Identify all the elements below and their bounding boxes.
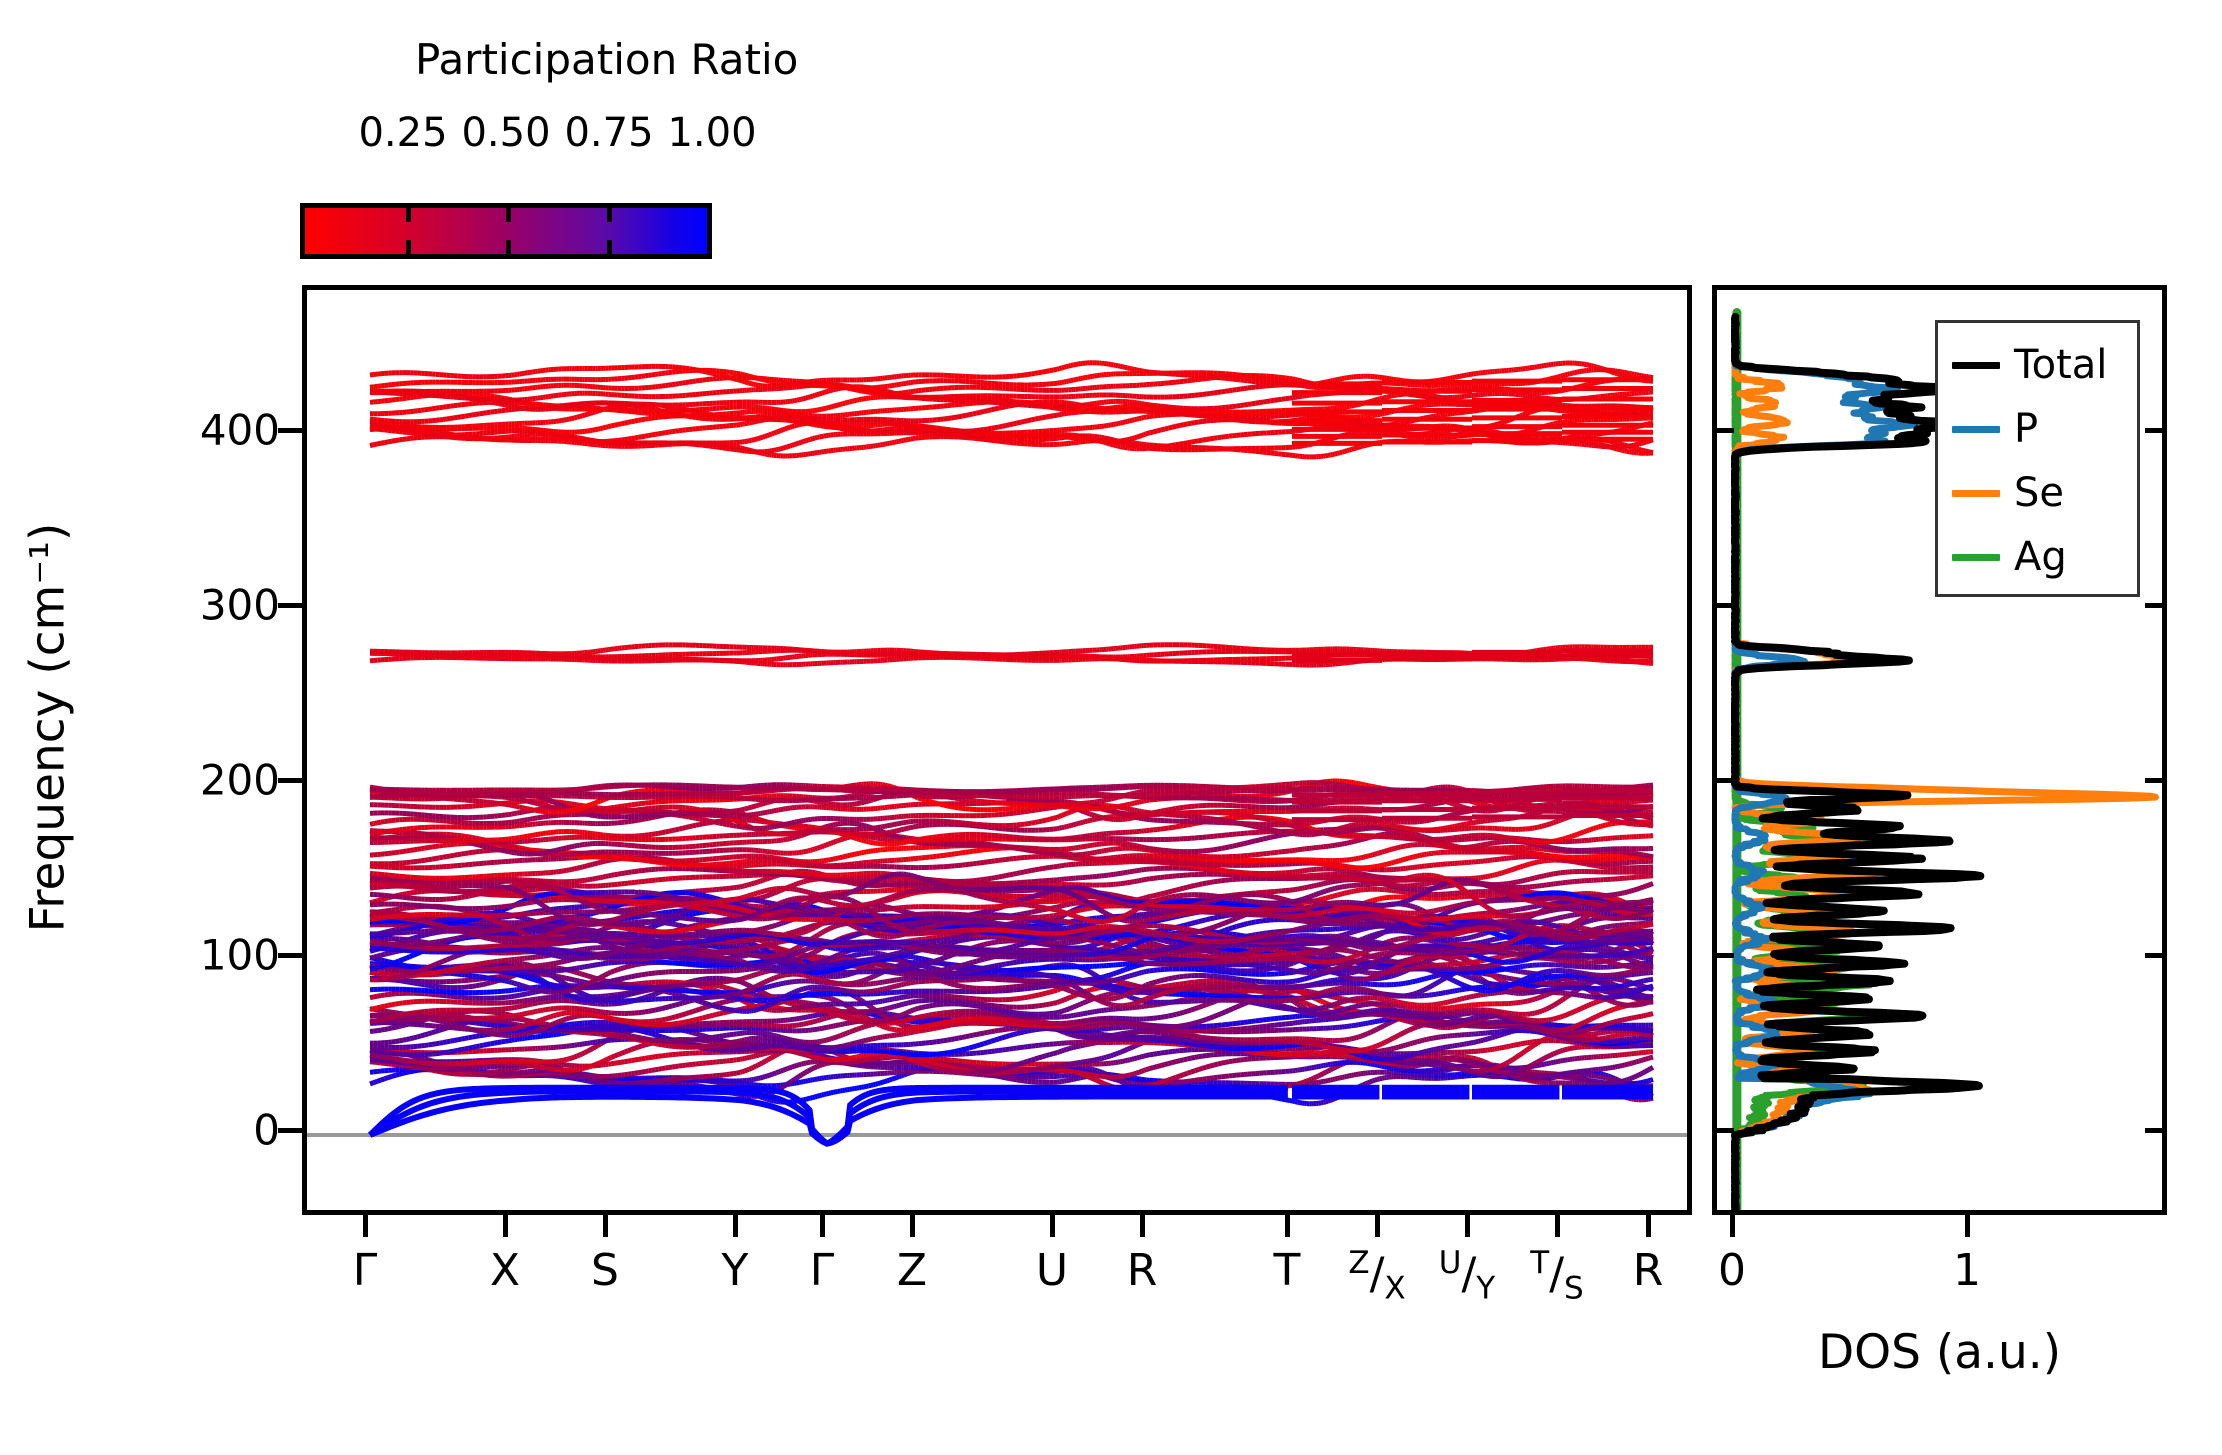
x-tick-mark-0: [363, 1215, 368, 1237]
dos-x-tick-mark-0: [1730, 1215, 1735, 1237]
dos-y-tick-200: [1712, 778, 1734, 783]
legend-swatch-p: [1952, 426, 2000, 433]
legend-swatch-ag: [1952, 554, 2000, 561]
x-tick-mark-6: [1050, 1215, 1055, 1237]
y-axis-label: Frequency (cm⁻¹): [21, 448, 76, 1008]
x-tick-mark-1: [503, 1215, 508, 1237]
x-tick-mark-12: [1646, 1215, 1651, 1237]
colorbar-divider-bot-1: [406, 240, 411, 254]
y-tick-label-400: 400: [130, 406, 280, 455]
legend-label-se: Se: [2014, 473, 2064, 513]
dos-y-tick-400: [1712, 428, 1734, 433]
x-tick-label-ts: T/S: [1557, 1245, 1610, 1306]
legend-label-total: Total: [2014, 345, 2107, 385]
colorbar-tick-label-3: 1.00: [667, 110, 756, 156]
x-tick-mark-4: [820, 1215, 825, 1237]
dos-y-tick-right-0: [2145, 1128, 2167, 1133]
dos-y-tick-300: [1712, 603, 1734, 608]
y-tick-label-300: 300: [130, 581, 280, 630]
colorbar-title: Participation Ratio: [415, 35, 798, 84]
x-tick-mark-5: [910, 1215, 915, 1237]
dos-y-tick-right-300: [2145, 603, 2167, 608]
participation-ratio-colorbar: [300, 203, 712, 259]
legend-swatch-total: [1952, 362, 2000, 369]
colorbar-divider-top-2: [506, 208, 511, 222]
colorbar-tick-label-0: 0.25: [358, 110, 447, 156]
x-tick-mark-8: [1285, 1215, 1290, 1237]
colorbar-divider-bot-2: [506, 240, 511, 254]
colorbar-divider-top-3: [607, 208, 612, 222]
colorbar-tick-labels: 0.25 0.50 0.75 1.00: [300, 110, 712, 160]
y-tick-mark-400: [278, 428, 304, 433]
x-tick-label-r-2: R: [1633, 1245, 1664, 1296]
y-tick-mark-200: [278, 778, 304, 783]
dos-y-tick-0: [1712, 1128, 1734, 1133]
x-tick-label-y: Y: [722, 1245, 749, 1296]
dos-x-axis-label: DOS (a.u.): [1712, 1325, 2167, 1380]
dos-y-tick-right-200: [2145, 778, 2167, 783]
figure-root: Participation Ratio 0.25 0.50 0.75 1.00 …: [0, 0, 2222, 1455]
y-tick-label-100: 100: [130, 931, 280, 980]
x-tick-label-t: T: [1274, 1245, 1301, 1296]
legend-label-ag: Ag: [2014, 537, 2067, 577]
band-structure-svg: [307, 290, 1692, 1215]
dos-y-tick-100: [1712, 953, 1734, 958]
x-tick-mark-2: [603, 1215, 608, 1237]
x-tick-mark-3: [733, 1215, 738, 1237]
legend-label-p: P: [2014, 409, 2038, 449]
colorbar-tick-label-2: 0.75: [564, 110, 653, 156]
x-tick-label-u: U: [1036, 1245, 1068, 1296]
legend-item-se: Se: [1938, 461, 2137, 525]
legend-item-p: P: [1938, 397, 2137, 461]
y-tick-label-0: 0: [130, 1106, 280, 1155]
x-tick-label-zx: Z/X: [1377, 1245, 1434, 1306]
x-tick-label-s: S: [591, 1245, 619, 1296]
x-tick-label-gamma-2: Γ: [810, 1245, 835, 1296]
x-tick-label-gamma-1: Γ: [353, 1245, 378, 1296]
colorbar-tick-label-1: 0.50: [461, 110, 550, 156]
dos-y-tick-right-400: [2145, 428, 2167, 433]
x-tick-mark-11: [1555, 1215, 1560, 1237]
x-tick-mark-7: [1140, 1215, 1145, 1237]
legend-item-total: Total: [1938, 333, 2137, 397]
colorbar-divider-bot-3: [607, 240, 612, 254]
x-tick-label-z: Z: [897, 1245, 927, 1296]
y-tick-mark-100: [278, 953, 304, 958]
band-structure-plot-area: [302, 285, 1692, 1215]
dos-y-tick-right-100: [2145, 953, 2167, 958]
dos-x-tick-mark-1: [1965, 1215, 1970, 1237]
dos-x-tick-label-1: 1: [1953, 1245, 1981, 1296]
dos-x-tick-label-0: 0: [1718, 1245, 1746, 1296]
y-tick-mark-0: [278, 1128, 304, 1133]
y-tick-label-200: 200: [130, 756, 280, 805]
x-tick-mark-9: [1375, 1215, 1380, 1237]
legend-item-ag: Ag: [1938, 525, 2137, 589]
dos-legend: Total P Se Ag: [1935, 320, 2140, 597]
legend-swatch-se: [1952, 490, 2000, 497]
y-tick-mark-300: [278, 603, 304, 608]
x-tick-label-r-1: R: [1127, 1245, 1158, 1296]
phonon-bands: [370, 363, 1653, 1144]
x-tick-mark-10: [1465, 1215, 1470, 1237]
colorbar-divider-top-1: [406, 208, 411, 222]
x-tick-label-uy: U/Y: [1467, 1245, 1523, 1306]
x-tick-label-x: X: [490, 1245, 520, 1296]
